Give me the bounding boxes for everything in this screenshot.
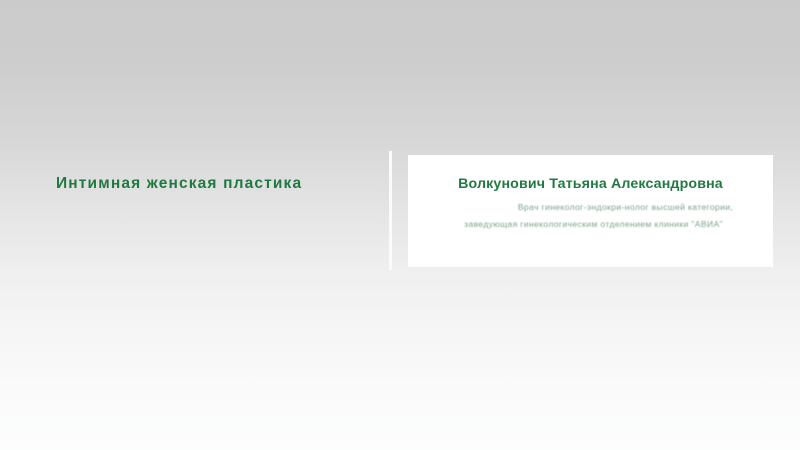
speaker-card: Волкунович Татьяна Александровна Врач ги… [408,155,773,267]
speaker-name: Волкунович Татьяна Александровна [408,176,773,192]
speaker-credentials-line-2: заведующая гинекологическим отделением к… [408,219,773,229]
speaker-credentials-line-1: Врач гинеколог-эндокри-нолог высшей кате… [408,202,773,212]
slide-root: Интимная женская пластика Волкунович Тат… [0,0,800,450]
page-title: Интимная женская пластика [56,174,356,193]
vertical-divider [389,151,392,270]
